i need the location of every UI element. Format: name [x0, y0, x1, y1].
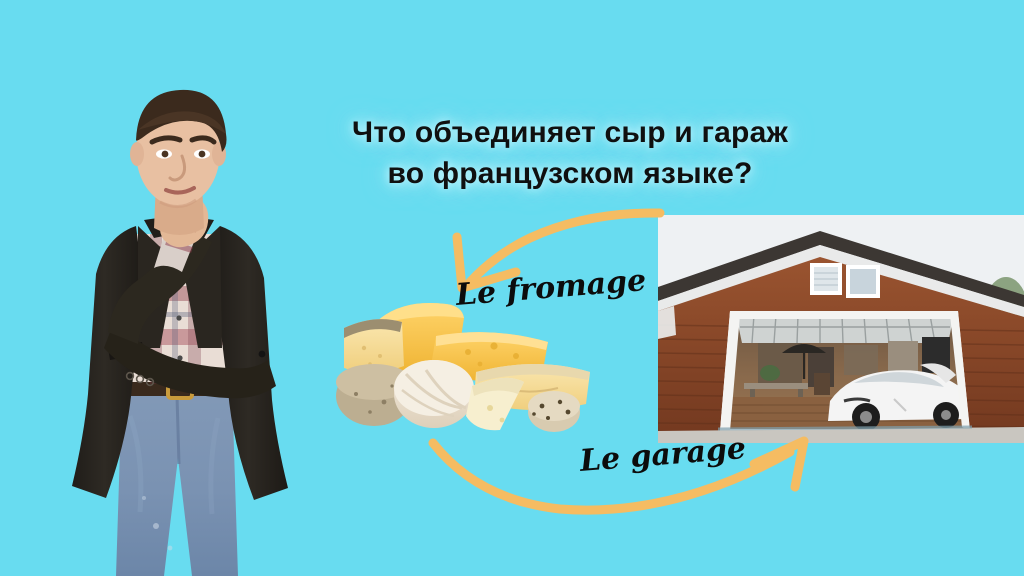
cheese-herb-round	[528, 391, 580, 432]
arrow-to-garage-head	[754, 441, 804, 487]
caption-le-fromage: Le fromage	[455, 263, 648, 313]
cheese-camembert	[394, 360, 474, 428]
caption-le-garage: Le garage	[579, 431, 748, 479]
presenter-head	[130, 90, 227, 235]
slide-canvas: Что объединяет сыр и гараж во французско…	[0, 0, 1024, 576]
page-title: Что объединяет сыр и гараж во французско…	[300, 112, 840, 195]
presenter-photo	[52, 86, 304, 576]
garage-side-window	[658, 306, 676, 339]
garage-bay	[718, 311, 974, 433]
garage-photo	[658, 215, 1024, 443]
presenter-jeans	[116, 376, 238, 576]
